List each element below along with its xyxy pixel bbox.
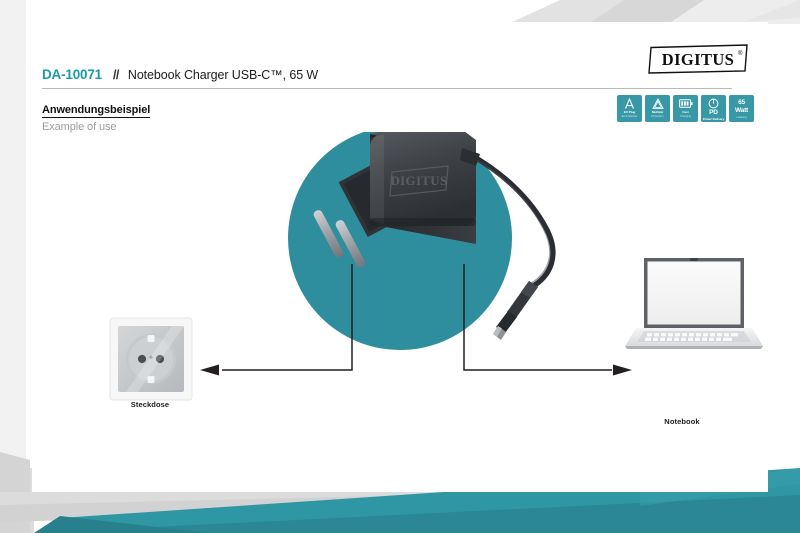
badge-65-watt: 65 Watt Leistung bbox=[729, 95, 754, 122]
arrow-head-left bbox=[200, 365, 219, 376]
badge-big-text: 65 bbox=[738, 100, 745, 107]
badge-line2: Leistung bbox=[736, 116, 746, 119]
section-title-de: Anwendungsbeispiel bbox=[42, 104, 150, 118]
article-number: DA-10071 bbox=[42, 67, 102, 82]
badge-multiple-protection: Multiple Protection bbox=[645, 95, 670, 122]
datasheet-page: DIGITUS ® DA-10071 // Notebook Charger U… bbox=[32, 22, 768, 492]
badge-fast-charging: Fast Charging bbox=[673, 95, 698, 122]
product-name: Notebook Charger USB-C™, 65 W bbox=[128, 68, 318, 82]
plug-a-icon bbox=[617, 97, 642, 110]
feature-badge-list: EU Plug Euro-Stecker Multiple Protection bbox=[617, 95, 754, 122]
warning-tri-icon bbox=[645, 97, 670, 110]
badge-line1: Power Delivery bbox=[703, 118, 724, 122]
section-title-en: Example of use bbox=[42, 121, 150, 133]
notebook-caption: Notebook bbox=[632, 417, 732, 426]
section-heading: Anwendungsbeispiel Example of use bbox=[42, 100, 150, 133]
notebook-illustration bbox=[625, 258, 763, 349]
header-divider bbox=[42, 88, 732, 89]
badge-line2: Protection bbox=[651, 115, 663, 118]
usage-diagram: DIGITUS Steckdose Notebook bbox=[32, 132, 768, 462]
badge-power-delivery: PD Power Delivery bbox=[701, 95, 726, 122]
badge-big-text: PD bbox=[709, 110, 718, 117]
badge-eu-plug: EU Plug Euro-Stecker bbox=[617, 95, 642, 122]
usb-c-connector bbox=[493, 281, 538, 340]
badge-line2: Euro-Stecker bbox=[622, 115, 638, 118]
badge-line2: Charging bbox=[680, 115, 691, 118]
embossed-wordmark: DIGITUS bbox=[390, 173, 447, 188]
registered-mark: ® bbox=[738, 50, 743, 57]
battery-icon bbox=[673, 97, 698, 110]
badge-unit-text: Watt bbox=[735, 108, 748, 115]
product-header: DA-10071 // Notebook Charger USB-C™, 65 … bbox=[42, 67, 732, 82]
arrow-head-right bbox=[613, 365, 632, 376]
header-separator: // bbox=[113, 68, 119, 82]
socket-caption: Steckdose bbox=[100, 400, 200, 409]
wall-socket-illustration bbox=[110, 318, 192, 400]
